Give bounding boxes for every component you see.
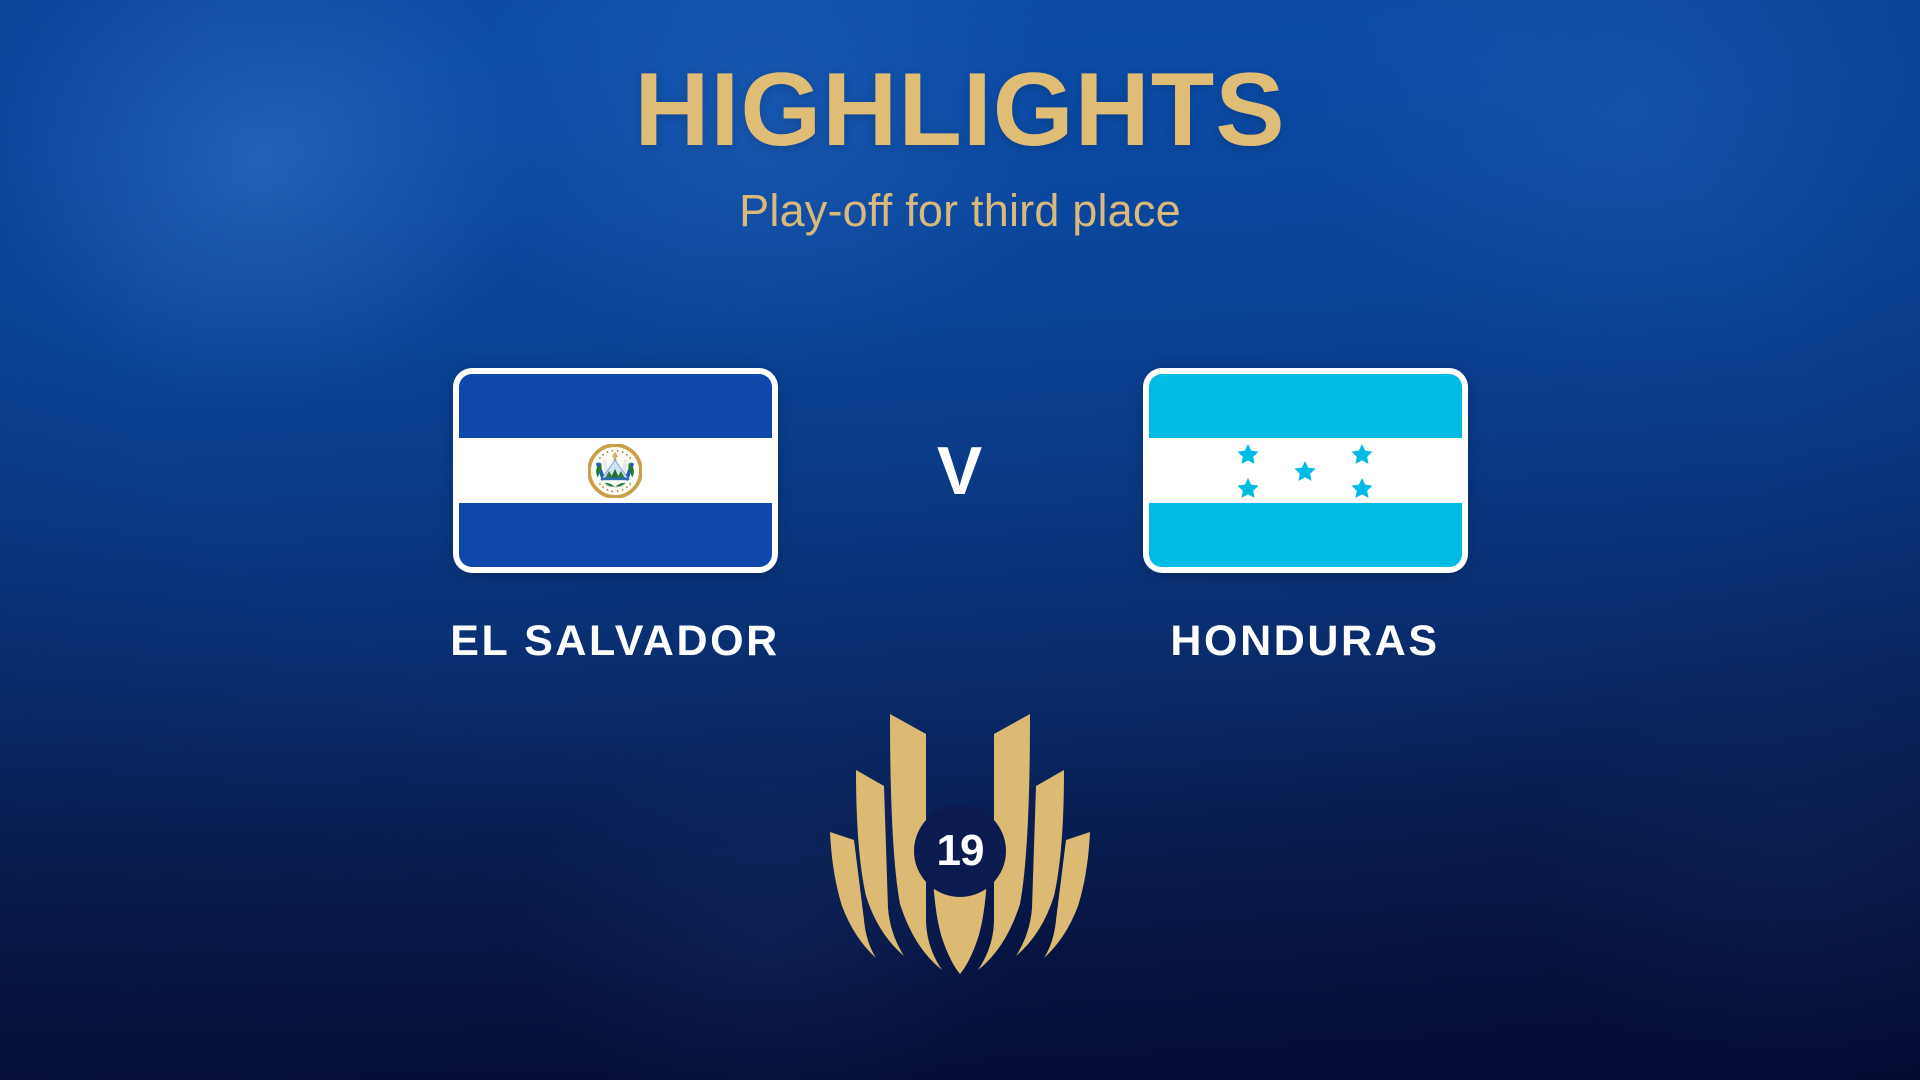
page-title: HIGHLIGHTS [0, 58, 1920, 162]
five-stars-icon [1232, 442, 1378, 500]
home-team: EL SALVADOR [355, 368, 875, 666]
el-salvador-flag-graphic [459, 374, 772, 567]
away-team-name: HONDURAS [1170, 617, 1439, 666]
header: HIGHLIGHTS Play-off for third place [0, 58, 1920, 233]
el-salvador-flag [453, 368, 778, 573]
honduras-flag [1143, 368, 1468, 573]
away-team: HONDURAS [1045, 368, 1565, 666]
home-team-name: EL SALVADOR [450, 617, 780, 666]
flag-band-top [459, 374, 772, 438]
flag-band-top [1149, 374, 1462, 438]
coat-of-arms-icon [588, 444, 642, 498]
versus-divider: V [875, 368, 1045, 573]
matchup: EL SALVADOR V [0, 368, 1920, 666]
versus-label: V [937, 432, 983, 510]
tournament-crest: 19 [820, 690, 1100, 980]
honduras-flag-graphic [1149, 374, 1462, 567]
page-subtitle: Play-off for third place [0, 188, 1920, 233]
crest-number: 19 [937, 826, 984, 876]
flag-band-bottom [1149, 503, 1462, 567]
flag-band-bottom [459, 503, 772, 567]
highlights-card: HIGHLIGHTS Play-off for third place [0, 0, 1920, 1080]
